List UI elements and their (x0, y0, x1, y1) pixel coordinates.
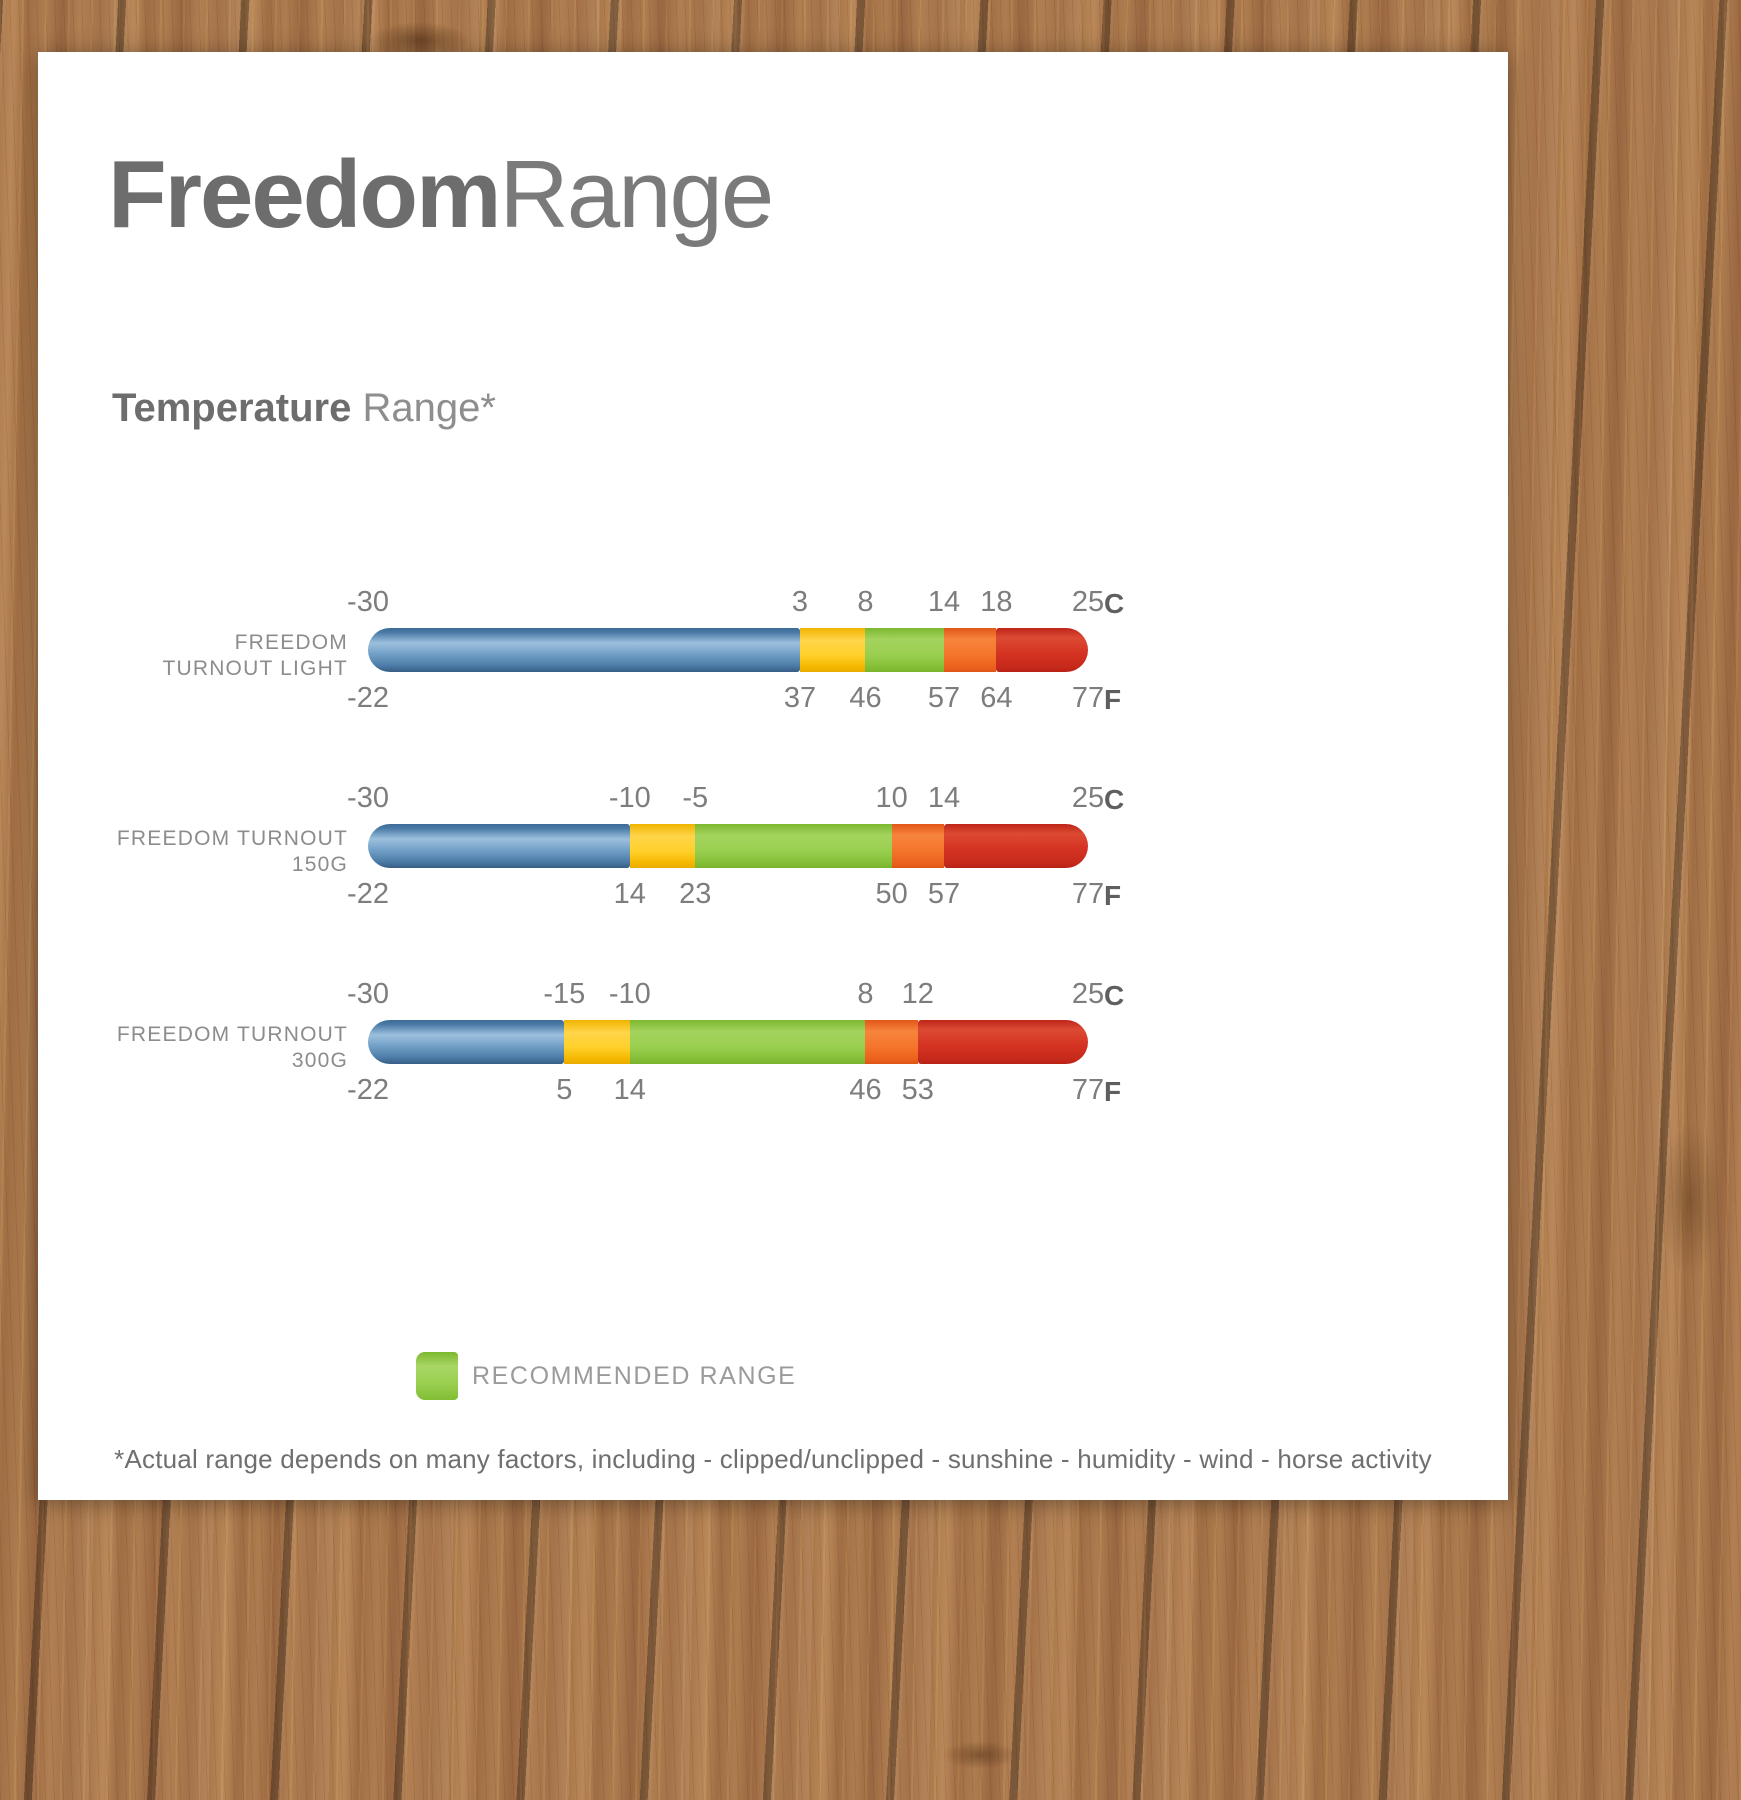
temperature-row: FREEDOM TURNOUT150G-30-10-5101425-221423… (38, 776, 1508, 972)
section-title: Temperature Range* (112, 388, 496, 428)
tick-label-f: 50 (875, 880, 907, 909)
tick-label-c: 10 (875, 784, 907, 813)
tick-label-f: -22 (347, 1076, 389, 1105)
section-title-bold: Temperature (112, 386, 351, 430)
unit-celsius: C (1104, 980, 1124, 1012)
bar-segment-fill (368, 1020, 564, 1064)
tick-label-f: 77 (1072, 880, 1104, 909)
bar-segment-fill (630, 824, 695, 868)
product-label-line: TURNOUT LIGHT (58, 656, 348, 682)
legend-label: RECOMMENDED RANGE (472, 1362, 796, 1391)
product-label-line: 150G (58, 852, 348, 878)
temperature-row: FREEDOMTURNOUT LIGHT-3038141825-22374657… (38, 580, 1508, 776)
temperature-bar (368, 628, 1088, 672)
unit-celsius: C (1104, 588, 1124, 620)
tick-label-c: 3 (792, 588, 808, 617)
tick-label-c: 14 (928, 784, 960, 813)
tick-label-c: 12 (902, 980, 934, 1009)
unit-fahrenheit: F (1104, 684, 1121, 716)
tick-label-c: -10 (609, 784, 651, 813)
tick-label-f: 46 (849, 684, 881, 713)
product-label-line: FREEDOM TURNOUT (58, 826, 348, 852)
tick-label-c: -5 (682, 784, 708, 813)
recommended-range-swatch (416, 1352, 458, 1400)
product-label: FREEDOMTURNOUT LIGHT (58, 630, 348, 682)
tick-label-c: 14 (928, 588, 960, 617)
info-card: FreedomRange Temperature Range* FREEDOMT… (38, 52, 1508, 1500)
footnote: *Actual range depends on many factors, i… (38, 1444, 1508, 1475)
tick-label-c: -30 (347, 588, 389, 617)
temperature-track: -30-15-1081225-22514465377 (368, 972, 1088, 1122)
product-label: FREEDOM TURNOUT300G (58, 1022, 348, 1074)
temperature-row: FREEDOM TURNOUT300G-30-15-1081225-225144… (38, 972, 1508, 1168)
temperature-rows: FREEDOMTURNOUT LIGHT-3038141825-22374657… (38, 580, 1508, 1168)
bar-segment-green (695, 824, 891, 868)
tick-label-f: -22 (347, 880, 389, 909)
unit-celsius: C (1104, 784, 1124, 816)
bar-segment-red (996, 628, 1088, 672)
temperature-bar (368, 824, 1088, 868)
tick-label-f: 77 (1072, 684, 1104, 713)
tick-label-c: 8 (857, 588, 873, 617)
unit-fahrenheit: F (1104, 1076, 1121, 1108)
tick-label-c: -15 (543, 980, 585, 1009)
temperature-bar (368, 1020, 1088, 1064)
tick-label-c: -30 (347, 980, 389, 1009)
bar-segment-yellow (564, 1020, 629, 1064)
bar-segment-red (944, 824, 1088, 868)
bar-segment-fill (695, 824, 891, 868)
brand-title-light: Range (499, 141, 772, 248)
bar-segment-yellow (630, 824, 695, 868)
tick-label-c: 18 (980, 588, 1012, 617)
tick-label-c: 25 (1072, 784, 1104, 813)
bar-segment-fill (892, 824, 944, 868)
tick-label-f: 37 (784, 684, 816, 713)
bar-segment-fill (865, 628, 944, 672)
tick-label-f: 53 (902, 1076, 934, 1105)
bar-segment-green (630, 1020, 866, 1064)
temperature-track: -30-10-5101425-221423505777 (368, 776, 1088, 926)
bar-segment-fill (630, 1020, 866, 1064)
bar-segment-fill (996, 628, 1088, 672)
bar-segment-fill (918, 1020, 1088, 1064)
tick-label-f: 23 (679, 880, 711, 909)
bar-segment-fill (865, 1020, 917, 1064)
bar-segment-fill (368, 824, 630, 868)
bar-segment-orange (865, 1020, 917, 1064)
tick-label-f: 14 (614, 1076, 646, 1105)
legend: RECOMMENDED RANGE (416, 1352, 796, 1400)
tick-label-f: 57 (928, 880, 960, 909)
brand-title-bold: Freedom (108, 141, 499, 248)
bar-segment-fill (564, 1020, 629, 1064)
tick-label-f: 64 (980, 684, 1012, 713)
tick-label-f: 5 (556, 1076, 572, 1105)
bar-segment-fill (368, 628, 800, 672)
bar-segment-blue (368, 1020, 564, 1064)
tick-label-c: 25 (1072, 980, 1104, 1009)
bar-segment-fill (944, 628, 996, 672)
tick-label-f: -22 (347, 684, 389, 713)
section-title-light: Range* (351, 386, 496, 430)
product-label: FREEDOM TURNOUT150G (58, 826, 348, 878)
bar-segment-orange (892, 824, 944, 868)
product-label-line: FREEDOM TURNOUT (58, 1022, 348, 1048)
tick-label-c: -10 (609, 980, 651, 1009)
temperature-track: -3038141825-223746576477 (368, 580, 1088, 730)
bar-segment-orange (944, 628, 996, 672)
bar-segment-blue (368, 824, 630, 868)
brand-title: FreedomRange (108, 147, 772, 243)
unit-fahrenheit: F (1104, 880, 1121, 912)
tick-label-c: 25 (1072, 588, 1104, 617)
tick-label-f: 57 (928, 684, 960, 713)
bar-segment-fill (944, 824, 1088, 868)
tick-label-c: 8 (857, 980, 873, 1009)
bar-segment-yellow (800, 628, 865, 672)
product-label-line: 300G (58, 1048, 348, 1074)
product-label-line: FREEDOM (58, 630, 348, 656)
tick-label-f: 77 (1072, 1076, 1104, 1105)
bar-segment-green (865, 628, 944, 672)
tick-label-f: 46 (849, 1076, 881, 1105)
bar-segment-fill (800, 628, 865, 672)
bar-segment-blue (368, 628, 800, 672)
tick-label-c: -30 (347, 784, 389, 813)
tick-label-f: 14 (614, 880, 646, 909)
bar-segment-red (918, 1020, 1088, 1064)
